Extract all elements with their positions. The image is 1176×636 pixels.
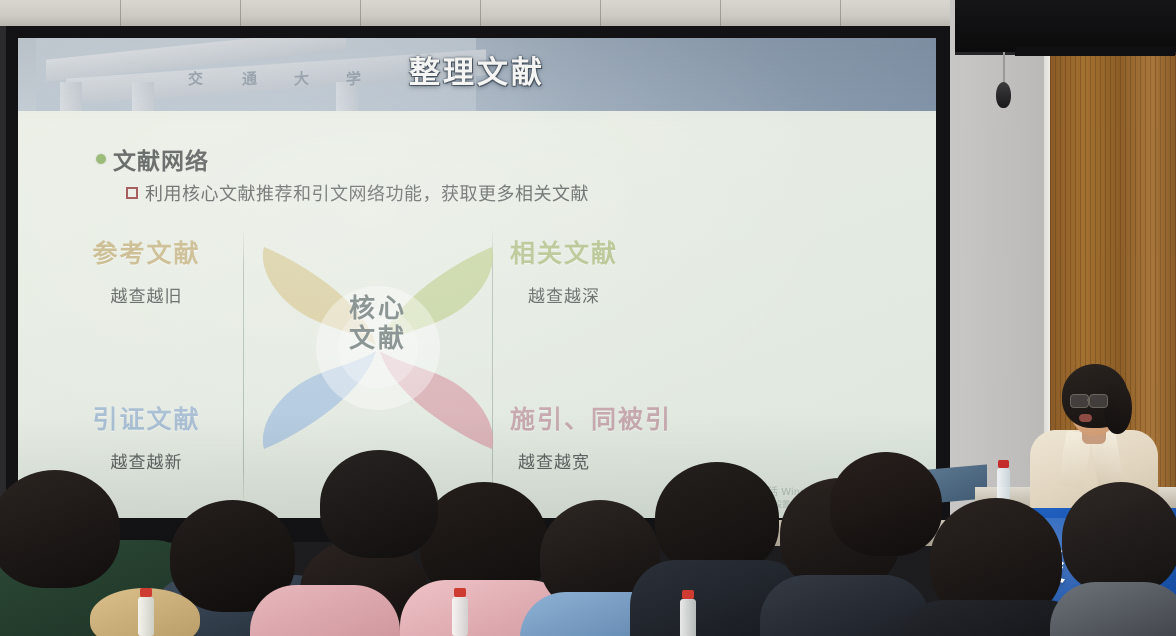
quadrant-sub: 越查越深	[528, 282, 760, 307]
core-label-line1: 核心	[258, 295, 498, 325]
water-bottle-audience	[452, 588, 468, 636]
monitor-bottom-bezel	[1015, 46, 1175, 56]
audience-shoulder	[250, 585, 400, 636]
audience-shoulder	[1050, 582, 1176, 636]
quadrant-top-left: 参考文献 越查越旧	[54, 234, 239, 307]
butterfly-diagram: 核心 文献	[258, 233, 498, 463]
speaker-glasses-right	[1089, 394, 1108, 408]
quadrant-heading: 相关文献	[510, 234, 760, 270]
audience-head	[320, 450, 438, 558]
bullet-dot-icon	[96, 154, 106, 164]
slide-title-banner: 交 通 大 学 整理文献	[18, 38, 936, 111]
quadrant-sub: 越查越宽	[518, 448, 810, 473]
audience-head	[655, 462, 779, 574]
audience-head	[830, 452, 942, 556]
quadrant-sub: 越查越新	[54, 448, 239, 473]
projection-screen: 交 通 大 学 整理文献 文献网络 利用核心文献推荐和引文网络功能，获取更多相关…	[18, 38, 936, 518]
lecture-hall-scene: 交 通 大 学 整理文献 文献网络 利用核心文献推荐和引文网络功能，获取更多相关…	[0, 0, 1176, 636]
screen-pull-weight	[996, 82, 1011, 108]
quadrant-bottom-right: 施引、同被引 越查越宽	[510, 400, 810, 473]
speaker-glasses-left	[1070, 394, 1089, 408]
slide-title: 整理文献	[18, 47, 936, 92]
core-label-line2: 文献	[258, 325, 498, 355]
screen-pull-cord	[1003, 52, 1005, 86]
quadrant-sub: 越查越旧	[54, 282, 239, 307]
bullet-main: 文献网络	[96, 142, 209, 176]
ceiling-tiles	[0, 0, 950, 26]
quadrant-bottom-left: 引证文献 越查越新	[54, 400, 239, 473]
water-bottle-audience	[138, 588, 154, 636]
bullet-square-icon	[126, 187, 138, 199]
water-bottle-podium	[997, 460, 1010, 500]
water-bottle-audience	[680, 590, 696, 636]
divider-left	[243, 228, 244, 508]
audience-head	[0, 470, 120, 588]
quadrant-heading: 引证文献	[54, 400, 239, 436]
speaker-mouth	[1079, 414, 1092, 422]
audience-head	[1062, 482, 1176, 594]
quadrant-top-right: 相关文献 越查越深	[510, 234, 760, 307]
bullet-main-label: 文献网络	[113, 142, 209, 176]
bullet-sub: 利用核心文献推荐和引文网络功能，获取更多相关文献	[126, 180, 589, 206]
speaker-hair-side	[1104, 382, 1132, 434]
speaker-glasses-bridge	[1087, 399, 1090, 401]
quadrant-heading: 参考文献	[54, 234, 239, 270]
core-label: 核心 文献	[258, 295, 498, 355]
presentation-slide: 交 通 大 学 整理文献 文献网络 利用核心文献推荐和引文网络功能，获取更多相关…	[18, 38, 936, 518]
quadrant-heading: 施引、同被引	[510, 400, 810, 436]
bullet-sub-label: 利用核心文献推荐和引文网络功能，获取更多相关文献	[145, 180, 589, 206]
